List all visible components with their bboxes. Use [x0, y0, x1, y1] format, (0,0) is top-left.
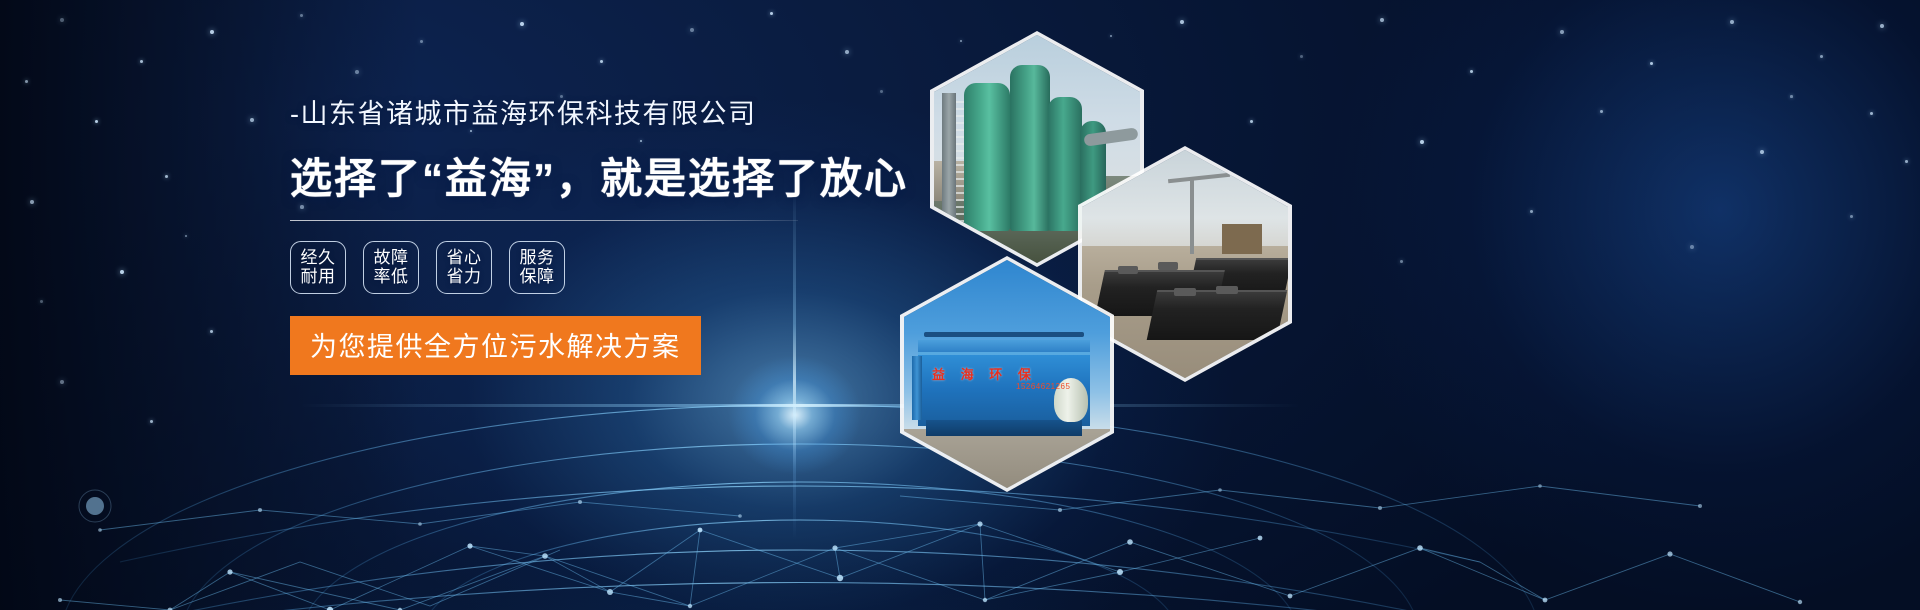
feature-badge-list: 经久 耐用 故障 率低 省心 省力 服务 保障	[290, 241, 850, 294]
star-dot	[1470, 70, 1473, 73]
star-dot	[1300, 55, 1303, 58]
hex-photo-green-towers	[934, 35, 1140, 263]
star-dot	[165, 175, 168, 178]
badge-line-2: 率低	[374, 268, 409, 286]
star-dot	[1820, 55, 1823, 58]
star-dot	[600, 60, 603, 63]
badge-line-2: 省力	[447, 268, 482, 286]
star-dot	[770, 12, 773, 15]
star-dot	[1730, 20, 1734, 24]
machine-brand-text: 益 海 环 保	[932, 364, 1072, 383]
promotional-banner: -山东省诸城市益海环保科技有限公司 选择了“益海”，就是选择了放心 经久 耐用 …	[0, 0, 1920, 610]
company-name-line: -山东省诸城市益海环保科技有限公司	[290, 92, 850, 131]
star-dot	[40, 300, 43, 303]
star-dot	[1650, 62, 1653, 65]
star-dot	[25, 80, 28, 83]
feature-badge: 故障 率低	[363, 241, 419, 294]
star-dot	[1530, 210, 1533, 213]
star-dot	[30, 200, 34, 204]
star-dot	[420, 40, 423, 43]
cta-button[interactable]: 为您提供全方位污水解决方案	[290, 316, 701, 375]
star-dot	[1870, 112, 1873, 115]
feature-badge: 省心 省力	[436, 241, 492, 294]
badge-line-1: 经久	[301, 249, 336, 267]
star-dot	[210, 30, 214, 34]
star-dot	[60, 380, 64, 384]
star-dot	[60, 18, 64, 22]
banner-headline: 选择了“益海”，就是选择了放心	[290, 145, 850, 206]
star-dot	[1400, 260, 1403, 263]
hexagon-photo-cluster: 益 海 环 保 15264621265	[878, 18, 1298, 488]
star-dot	[95, 120, 98, 123]
hex-photo-black-tanks	[1082, 150, 1288, 378]
star-dot	[120, 270, 124, 274]
star-dot	[1690, 245, 1694, 249]
headline-divider	[290, 220, 798, 221]
badge-line-1: 省心	[447, 249, 482, 267]
star-dot	[300, 14, 303, 17]
star-dot	[250, 118, 254, 122]
badge-line-2: 保障	[520, 268, 555, 286]
star-dot	[185, 235, 187, 237]
machine-phone-text: 15264621265	[1016, 382, 1070, 391]
star-dot	[520, 22, 524, 26]
hex-photo-blue-daf-machine: 益 海 环 保 15264621265	[904, 260, 1110, 488]
star-dot	[845, 50, 849, 54]
star-dot	[1905, 160, 1908, 163]
star-dot	[1880, 24, 1884, 28]
star-dot	[355, 70, 359, 74]
star-dot	[1380, 18, 1384, 22]
feature-badge: 服务 保障	[509, 241, 565, 294]
star-dot	[210, 330, 213, 333]
star-dot	[1600, 110, 1603, 113]
star-dot	[1560, 30, 1564, 34]
badge-line-2: 耐用	[301, 268, 336, 286]
star-dot	[1790, 95, 1793, 98]
feature-badge: 经久 耐用	[290, 241, 346, 294]
star-dot	[150, 420, 153, 423]
star-dot	[1760, 150, 1764, 154]
hex-photo-frame-1	[930, 31, 1144, 267]
badge-line-1: 服务	[520, 249, 555, 267]
star-dot	[140, 60, 143, 63]
banner-content: -山东省诸城市益海环保科技有限公司 选择了“益海”，就是选择了放心 经久 耐用 …	[290, 92, 850, 375]
hex-photo-frame-2	[1078, 146, 1292, 382]
badge-line-1: 故障	[374, 249, 409, 267]
star-dot	[1850, 215, 1853, 218]
star-dot	[690, 28, 694, 32]
star-dot	[1420, 140, 1424, 144]
hex-photo-frame-3	[900, 256, 1114, 492]
